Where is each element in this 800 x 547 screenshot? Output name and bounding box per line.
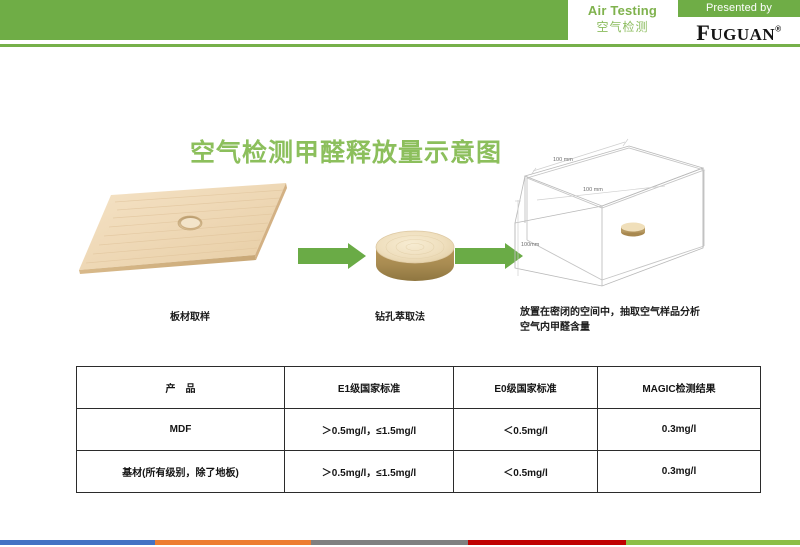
brand-logo-initial: F xyxy=(696,20,710,45)
footer-segment-blue xyxy=(0,540,155,545)
page-title: 空气检测甲醛释放量示意图 xyxy=(190,133,502,169)
dimension-label-depth: 100 mm xyxy=(553,157,573,163)
standards-table-wrapper: 产 品 E1级国家标准 E0级国家标准 MAGIC检测结果 MDF ＞0.5mg… xyxy=(76,366,724,493)
cell-e1-0: ＞0.5mg/l，≤1.5mg/l xyxy=(285,409,454,451)
table-row: MDF ＞0.5mg/l，≤1.5mg/l ＜0.5mg/l 0.3mg/l xyxy=(77,409,761,451)
presented-by-block: Presented by FUGUAN® xyxy=(678,0,800,42)
dimension-label-height: 100mm xyxy=(521,242,540,248)
header-underline-rule xyxy=(0,44,800,47)
arrow-right-icon xyxy=(298,243,366,269)
sample-inside-chamber xyxy=(621,223,645,237)
header-green-banner xyxy=(0,0,568,40)
cell-e1-1: ＞0.5mg/l，≤1.5mg/l xyxy=(285,451,454,493)
wood-core-sample-illustration xyxy=(372,226,458,288)
caption-board-sampling: 板材取样 xyxy=(120,310,260,325)
brand-logo-rest: UGUAN xyxy=(710,25,775,44)
air-testing-chinese-label: 空气检测 xyxy=(570,19,675,36)
table-header-e0-standard: E0级国家标准 xyxy=(454,367,598,409)
slide-canvas: Air Testing 空气检测 Presented by FUGUAN® 空气… xyxy=(0,0,800,547)
table-header-product: 产 品 xyxy=(77,367,285,409)
wood-puck-svg xyxy=(372,226,458,288)
sealed-chamber-svg: 100 mm 100 mm 100mm xyxy=(505,128,710,288)
air-testing-label-block: Air Testing 空气检测 xyxy=(570,3,675,36)
table-row: 基材(所有级别，除了地板) ＞0.5mg/l，≤1.5mg/l ＜0.5mg/l… xyxy=(77,451,761,493)
presented-by-label: Presented by xyxy=(678,0,800,17)
footer-segment-red xyxy=(468,540,626,545)
dimension-label-width: 100 mm xyxy=(583,187,603,193)
footer-segment-green xyxy=(626,540,800,545)
table-header-row: 产 品 E1级国家标准 E0级国家标准 MAGIC检测结果 xyxy=(77,367,761,409)
sealed-chamber-illustration: 100 mm 100 mm 100mm xyxy=(505,128,710,288)
cell-product-1: 基材(所有级别，除了地板) xyxy=(77,451,285,493)
caption-sealed-chamber-analysis: 放置在密闭的空间中，抽取空气样品分析空气内甲醛含量 xyxy=(520,305,700,335)
table-header-magic-result: MAGIC检测结果 xyxy=(598,367,761,409)
cell-product-0: MDF xyxy=(77,409,285,451)
cell-magic-0: 0.3mg/l xyxy=(598,409,761,451)
air-testing-english-label: Air Testing xyxy=(570,3,675,19)
cell-e0-1: ＜0.5mg/l xyxy=(454,451,598,493)
process-arrow-1 xyxy=(298,243,366,274)
table-header-e1-standard: E1级国家标准 xyxy=(285,367,454,409)
wood-board-svg xyxy=(70,182,295,274)
brand-logo-text: FUGUAN® xyxy=(696,20,781,45)
wood-board-illustration xyxy=(70,182,295,274)
cell-e0-0: ＜0.5mg/l xyxy=(454,409,598,451)
cell-magic-1: 0.3mg/l xyxy=(598,451,761,493)
footer-segment-gray xyxy=(311,540,468,545)
standards-table: 产 品 E1级国家标准 E0级国家标准 MAGIC检测结果 MDF ＞0.5mg… xyxy=(76,366,761,493)
footer-segment-orange xyxy=(155,540,311,545)
brand-logo: FUGUAN® xyxy=(678,17,800,42)
registered-trademark-icon: ® xyxy=(775,25,781,34)
caption-drill-core-extraction: 钻孔萃取法 xyxy=(330,310,470,325)
footer-color-bar xyxy=(0,540,800,545)
